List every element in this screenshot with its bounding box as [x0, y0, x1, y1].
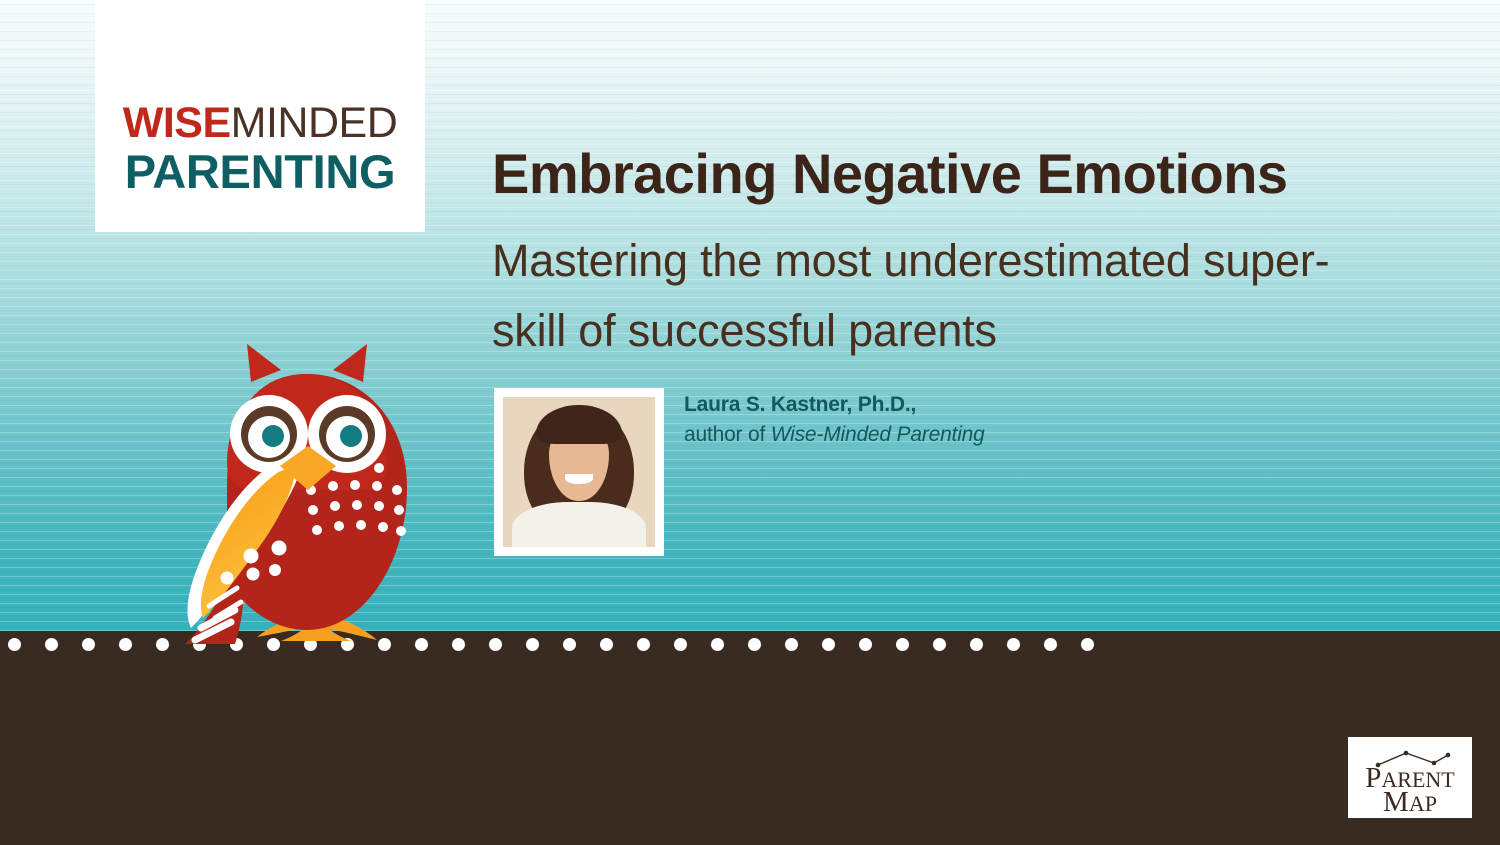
- wise-minded-parenting-logo: WISEMINDED PARENTING: [95, 0, 425, 232]
- decorative-dot: [82, 638, 95, 651]
- decorative-dot: [452, 638, 465, 651]
- author-name: Laura S. Kastner, Ph.D.,: [684, 390, 985, 420]
- decorative-dot: [119, 638, 132, 651]
- slide-subtitle: Mastering the most underestimated super-…: [492, 226, 1392, 366]
- photo-hair-top-shape: [536, 405, 621, 444]
- decorative-dot: [1007, 638, 1020, 651]
- decorative-dot: [1044, 638, 1057, 651]
- author-credit: author of Wise-Minded Parenting: [684, 420, 985, 450]
- author-photo: [503, 397, 655, 547]
- photo-shirt-shape: [512, 502, 646, 547]
- decorative-dot: [748, 638, 761, 651]
- decorative-dot: [563, 638, 576, 651]
- author-credit-prefix: author of: [684, 423, 771, 446]
- parentmap-word-parent: PARENT: [1365, 762, 1455, 794]
- logo-word-parenting: PARENTING: [125, 147, 396, 196]
- decorative-dot: [600, 638, 613, 651]
- decorative-dot: [1081, 638, 1094, 651]
- decorative-dot: [896, 638, 909, 651]
- owl-ear-left: [247, 344, 281, 382]
- slide-title: Embracing Negative Emotions: [492, 143, 1288, 205]
- author-book-title: Wise-Minded Parenting: [771, 423, 985, 446]
- logo-word-wise: WISE: [123, 99, 231, 147]
- decorative-dot: [822, 638, 835, 651]
- author-photo-frame: [494, 388, 664, 556]
- owl-illustration: [165, 338, 450, 658]
- photo-smile-shape: [565, 474, 592, 485]
- footer-band: [0, 631, 1500, 845]
- logo-line-one: WISEMINDED: [123, 102, 398, 145]
- decorative-dot: [933, 638, 946, 651]
- decorative-dot: [785, 638, 798, 651]
- parentmap-logo: PARENT MAP: [1348, 737, 1472, 818]
- logo-word-minded: MINDED: [231, 99, 398, 147]
- decorative-dot: [674, 638, 687, 651]
- author-info: Laura S. Kastner, Ph.D., author of Wise-…: [684, 390, 985, 451]
- decorative-dot: [526, 638, 539, 651]
- decorative-dot: [970, 638, 983, 651]
- decorative-dot: [859, 638, 872, 651]
- decorative-dot: [8, 638, 21, 651]
- presentation-slide: WISEMINDED PARENTING Embracing Negative …: [0, 0, 1500, 845]
- parentmap-word-map: MAP: [1383, 786, 1437, 818]
- decorative-dot: [637, 638, 650, 651]
- decorative-dot: [45, 638, 58, 651]
- decorative-dot: [489, 638, 502, 651]
- owl-ear-right: [333, 344, 367, 382]
- parentmap-constellation: [1376, 751, 1451, 768]
- decorative-dot: [711, 638, 724, 651]
